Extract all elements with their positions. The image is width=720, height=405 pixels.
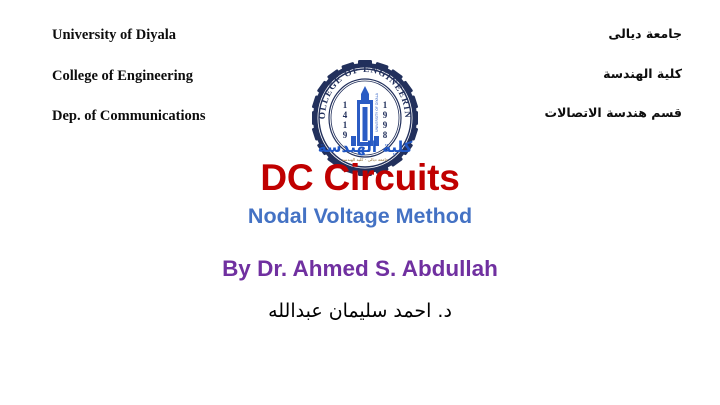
title-block: DC Circuits Nodal Voltage Method By Dr. … [0, 158, 720, 323]
seal-date-left-d1: 1 [343, 100, 348, 110]
header-line-department: Dep. of Communications [52, 109, 205, 124]
seal-date-left-d3: 1 [343, 120, 348, 130]
author-name-arabic: د. احمد سليمان عبدالله [0, 300, 720, 323]
page-title: DC Circuits [0, 158, 720, 198]
seal-date-right-d3: 9 [383, 120, 388, 130]
header-line-college-arabic: كلية الهندسة [545, 68, 682, 81]
header-right-column: جامعة ديالى كلية الهندسة قسم هندسة الاتص… [545, 28, 682, 147]
slide-header: University of Diyala College of Engineer… [0, 28, 720, 148]
header-line-university-arabic: جامعة ديالى [545, 28, 682, 41]
author-name: By Dr. Ahmed S. Abdullah [0, 257, 720, 282]
page-subtitle: Nodal Voltage Method [0, 205, 720, 229]
header-left-column: University of Diyala College of Engineer… [52, 28, 205, 150]
header-line-department-arabic: قسم هندسة الاتصالات [545, 107, 682, 120]
seal-date-right-d2: 9 [383, 110, 388, 120]
seal-tower-vertical-text: UNIVERSITY OF DIYALA [375, 92, 379, 132]
seal-arabic-script: كلية الهندسة [318, 138, 413, 156]
slide-canvas: University of Diyala College of Engineer… [0, 0, 720, 405]
header-line-college: College of Engineering [52, 69, 205, 84]
seal-date-left-d2: 4 [343, 110, 348, 120]
seal-date-right-d1: 1 [383, 100, 388, 110]
header-line-university: University of Diyala [52, 28, 205, 43]
